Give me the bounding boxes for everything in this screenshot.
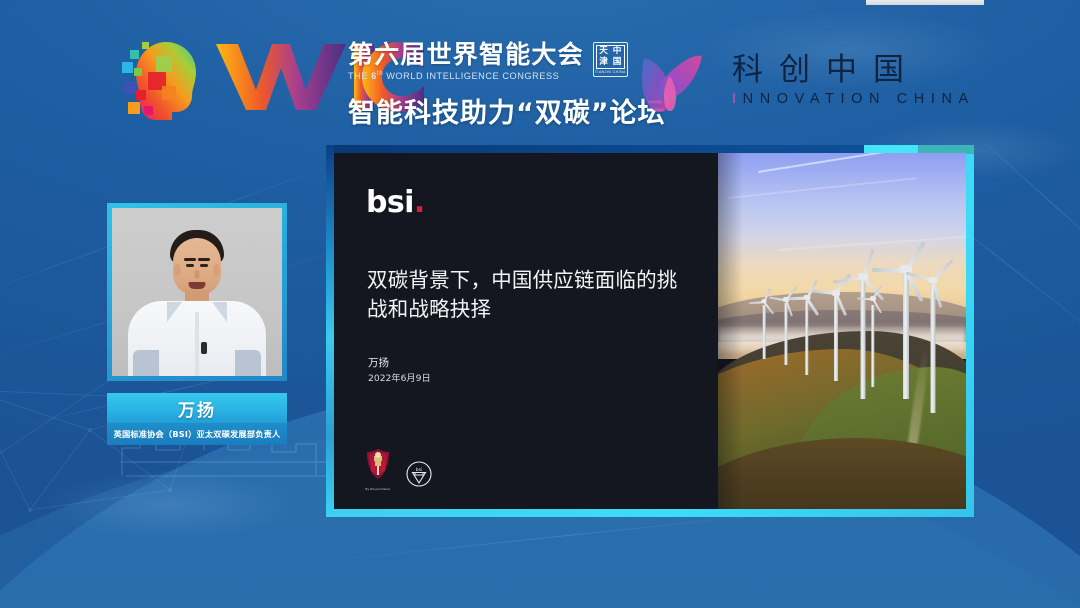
speaker-eye-left xyxy=(186,264,194,267)
speaker-ear-right xyxy=(213,264,220,276)
innovation-china-logo: 科创中国 INNOVATION CHINA xyxy=(640,46,975,116)
broadcast-stage: 第六届世界智能大会 THE 6th WORLD INTELLIGENCE CON… xyxy=(0,0,1080,608)
tianjin-seal-badge: 天 中 津 国 TIANJIN CHINA xyxy=(593,42,628,77)
congress-title-cn: 第六届世界智能大会 xyxy=(348,42,584,68)
speaker-eyebrow-left xyxy=(184,258,196,261)
event-header: 第六届世界智能大会 THE 6th WORLD INTELLIGENCE CON… xyxy=(0,0,1080,150)
speaker-panel: 万扬 英国标准协会（BSI）亚太双碳发展部负责人 xyxy=(107,203,287,445)
seal-char-4: 国 xyxy=(610,57,624,68)
bsi-logo: bsi. xyxy=(366,188,425,218)
speaker-eyebrow-right xyxy=(198,258,210,261)
speaker-sleeve-right xyxy=(235,350,261,376)
presentation-slide: bsi. 双碳背景下，中国供应链面临的挑战和战略抉择 万扬 2022年6月9日 xyxy=(334,153,966,509)
slide-frame: bsi. 双碳背景下，中国供应链面临的挑战和战略抉择 万扬 2022年6月9日 xyxy=(326,145,974,517)
slide-title: 双碳背景下，中国供应链面临的挑战和战略抉择 xyxy=(367,266,697,324)
speaker-sleeve-left xyxy=(133,350,159,376)
seal-char-1: 天 xyxy=(597,46,611,57)
forum-title: 智能科技助力“双碳”论坛 xyxy=(348,91,666,130)
speaker-title-plate: 英国标准协会（BSI）亚太双碳发展部负责人 xyxy=(107,423,287,445)
royal-charter-crest: By Royal Charter xyxy=(364,447,392,491)
wic-titles: 第六届世界智能大会 THE 6th WORLD INTELLIGENCE CON… xyxy=(348,42,666,130)
bsi-kitemark-icon: bsi xyxy=(406,461,432,487)
seal-char-2: 中 xyxy=(610,46,624,57)
image-edge-shadow xyxy=(718,153,966,509)
slide-frame-left-bar xyxy=(326,145,334,517)
window-chrome-strip xyxy=(866,0,984,5)
seal-subtitle: TIANJIN CHINA xyxy=(595,70,626,74)
partner-name-cn: 科创中国 xyxy=(732,55,975,86)
seal-char-3: 津 xyxy=(597,57,611,68)
slide-date: 2022年6月9日 xyxy=(368,370,431,384)
wind-turbine-farm-photo xyxy=(718,153,966,509)
lapel-microphone xyxy=(201,342,207,354)
speaker-ear-left xyxy=(174,264,181,276)
speaker-video-frame xyxy=(107,203,287,381)
speaker-collar-right xyxy=(212,302,227,322)
panel-spacer xyxy=(107,381,287,393)
speaker-nose xyxy=(195,270,200,279)
speaker-name-plate: 万扬 xyxy=(107,393,287,423)
speaker-shirt-placket xyxy=(195,312,199,376)
butterfly-mark-icon xyxy=(640,46,706,116)
speaker-title: 英国标准协会（BSI）亚太双碳发展部负责人 xyxy=(114,428,281,440)
speaker-video-feed xyxy=(112,208,282,376)
slide-image-column xyxy=(718,153,966,509)
slide-text-column: bsi. 双碳背景下，中国供应链面临的挑战和战略抉择 万扬 2022年6月9日 xyxy=(334,153,718,509)
speaker-name: 万扬 xyxy=(178,396,216,421)
speaker-collar-left xyxy=(167,302,182,322)
slide-footer-logos: By Royal Charter bsi xyxy=(364,447,432,491)
congress-title-en: THE 6th WORLD INTELLIGENCE CONGRESS xyxy=(348,71,584,82)
wic-head-icon xyxy=(122,34,208,122)
speaker-eye-right xyxy=(200,264,208,267)
partner-name-en: INNOVATION CHINA xyxy=(732,91,975,107)
speaker-mouth xyxy=(189,282,206,289)
royal-charter-caption: By Royal Charter xyxy=(364,487,392,491)
slide-author: 万扬 xyxy=(368,355,389,371)
